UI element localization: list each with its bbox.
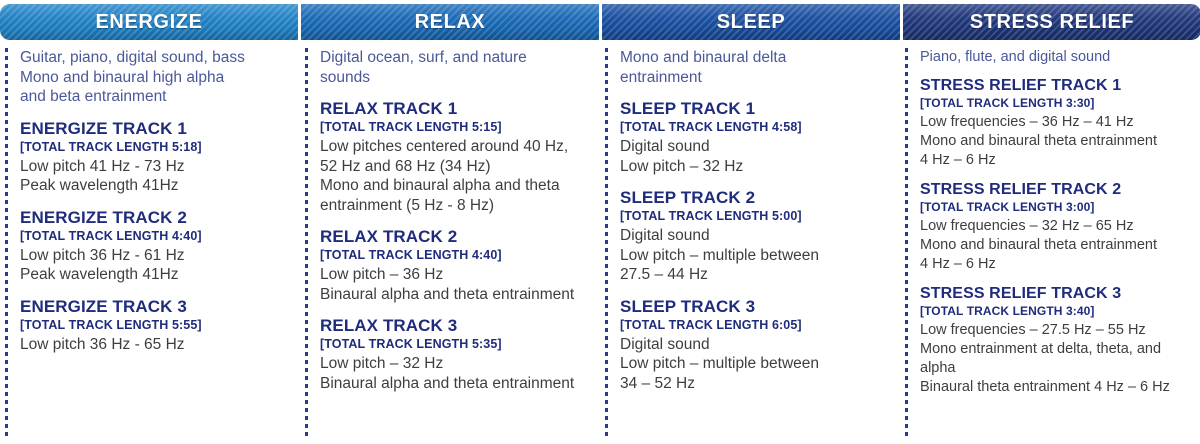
track-detail-line: Digital sound xyxy=(620,137,886,157)
track-detail-line: Low pitches centered around 40 Hz, xyxy=(320,137,586,157)
category-column-relax: Digital ocean, surf, and naturesoundsREL… xyxy=(300,48,600,444)
track-length: [TOTAL TRACK LENGTH 5:35] xyxy=(320,336,586,352)
track-title: RELAX TRACK 2 xyxy=(320,226,586,247)
track-detail-line: Mono and binaural theta entrainment xyxy=(920,132,1194,151)
category-header-label: RELAX xyxy=(415,11,486,34)
category-header-energize[interactable]: ENERGIZE xyxy=(0,4,298,40)
track-length: [TOTAL TRACK LENGTH 6:05] xyxy=(620,317,886,333)
track-entry: ENERGIZE TRACK 1[TOTAL TRACK LENGTH 5:18… xyxy=(20,118,286,196)
track-detail-line: Low pitch 36 Hz - 61 Hz xyxy=(20,246,286,266)
track-detail-line: Low pitch – 32 Hz xyxy=(620,157,886,177)
track-entry: STRESS RELIEF TRACK 2[TOTAL TRACK LENGTH… xyxy=(920,180,1194,274)
track-length: [TOTAL TRACK LENGTH 5:15] xyxy=(320,119,586,135)
category-intro: Mono and binaural deltaentrainment xyxy=(620,48,886,87)
track-entry: ENERGIZE TRACK 3[TOTAL TRACK LENGTH 5:55… xyxy=(20,296,286,355)
track-entry: SLEEP TRACK 3[TOTAL TRACK LENGTH 6:05]Di… xyxy=(620,296,886,394)
intro-line: entrainment xyxy=(620,68,886,88)
track-entry: SLEEP TRACK 1[TOTAL TRACK LENGTH 4:58]Di… xyxy=(620,98,886,176)
track-entry: ENERGIZE TRACK 2[TOTAL TRACK LENGTH 4:40… xyxy=(20,207,286,285)
track-entry: SLEEP TRACK 2[TOTAL TRACK LENGTH 5:00]Di… xyxy=(620,187,886,285)
track-detail-line: 52 Hz and 68 Hz (34 Hz) xyxy=(320,157,586,177)
track-length: [TOTAL TRACK LENGTH 3:40] xyxy=(920,304,1194,319)
track-detail-line: entrainment (5 Hz - 8 Hz) xyxy=(320,196,586,216)
track-entry: STRESS RELIEF TRACK 3[TOTAL TRACK LENGTH… xyxy=(920,284,1194,397)
track-length: [TOTAL TRACK LENGTH 4:58] xyxy=(620,119,886,135)
category-column-stress-relief: Piano, flute, and digital soundSTRESS RE… xyxy=(900,48,1200,444)
track-detail-line: Low pitch – 36 Hz xyxy=(320,265,586,285)
track-title: ENERGIZE TRACK 3 xyxy=(20,296,286,317)
category-header-label: SLEEP xyxy=(717,11,786,34)
track-detail-line: Low pitch 41 Hz - 73 Hz xyxy=(20,157,286,177)
intro-line: Piano, flute, and digital sound xyxy=(920,48,1194,67)
intro-line: and beta entrainment xyxy=(20,87,286,107)
track-detail-line: Low frequencies – 32 Hz – 65 Hz xyxy=(920,217,1194,236)
track-detail-line: 27.5 – 44 Hz xyxy=(620,265,886,285)
intro-line: Mono and binaural delta xyxy=(620,48,886,68)
track-title: SLEEP TRACK 3 xyxy=(620,296,886,317)
track-entry: RELAX TRACK 2[TOTAL TRACK LENGTH 4:40]Lo… xyxy=(320,226,586,304)
track-entry: RELAX TRACK 3[TOTAL TRACK LENGTH 5:35]Lo… xyxy=(320,315,586,393)
track-detail-line: 34 – 52 Hz xyxy=(620,374,886,394)
track-detail-line: Low pitch – multiple between xyxy=(620,246,886,266)
track-entry: RELAX TRACK 1[TOTAL TRACK LENGTH 5:15]Lo… xyxy=(320,98,586,215)
track-detail-line: Peak wavelength 41Hz xyxy=(20,176,286,196)
category-header-sleep[interactable]: SLEEP xyxy=(602,4,900,40)
intro-line: sounds xyxy=(320,68,586,88)
track-entry: STRESS RELIEF TRACK 1[TOTAL TRACK LENGTH… xyxy=(920,76,1194,170)
track-detail-line: Low frequencies – 36 Hz – 41 Hz xyxy=(920,113,1194,132)
track-title: RELAX TRACK 3 xyxy=(320,315,586,336)
track-title: SLEEP TRACK 1 xyxy=(620,98,886,119)
category-intro: Piano, flute, and digital sound xyxy=(920,48,1194,67)
track-title: SLEEP TRACK 2 xyxy=(620,187,886,208)
intro-line: Guitar, piano, digital sound, bass xyxy=(20,48,286,68)
category-body-row: Guitar, piano, digital sound, bassMono a… xyxy=(0,48,1200,444)
category-intro: Guitar, piano, digital sound, bassMono a… xyxy=(20,48,286,107)
track-detail-line: Binaural alpha and theta entrainment xyxy=(320,374,586,394)
track-length: [TOTAL TRACK LENGTH 5:00] xyxy=(620,208,886,224)
category-header-relax[interactable]: RELAX xyxy=(301,4,599,40)
track-detail-line: Low pitch – multiple between xyxy=(620,354,886,374)
track-title: RELAX TRACK 1 xyxy=(320,98,586,119)
track-detail-line: Mono and binaural theta entrainment xyxy=(920,236,1194,255)
track-detail-line: 4 Hz – 6 Hz xyxy=(920,255,1194,274)
track-title: STRESS RELIEF TRACK 1 xyxy=(920,76,1194,96)
track-length: [TOTAL TRACK LENGTH 3:30] xyxy=(920,96,1194,111)
track-detail-line: Low frequencies – 27.5 Hz – 55 Hz xyxy=(920,321,1194,340)
category-header-stress-relief[interactable]: STRESS RELIEF xyxy=(903,4,1200,40)
track-detail-line: 4 Hz – 6 Hz xyxy=(920,151,1194,170)
category-header-label: STRESS RELIEF xyxy=(970,11,1135,34)
track-length: [TOTAL TRACK LENGTH 4:40] xyxy=(20,228,286,244)
category-intro: Digital ocean, surf, and naturesounds xyxy=(320,48,586,87)
track-detail-line: Binaural theta entrainment 4 Hz – 6 Hz xyxy=(920,378,1194,397)
category-header-label: ENERGIZE xyxy=(95,11,202,34)
track-detail-line: Low pitch – 32 Hz xyxy=(320,354,586,374)
track-detail-line: Mono entrainment at delta, theta, and al… xyxy=(920,340,1194,378)
track-title: STRESS RELIEF TRACK 2 xyxy=(920,180,1194,200)
category-column-sleep: Mono and binaural deltaentrainmentSLEEP … xyxy=(600,48,900,444)
track-length: [TOTAL TRACK LENGTH 3:00] xyxy=(920,200,1194,215)
track-length: [TOTAL TRACK LENGTH 4:40] xyxy=(320,247,586,263)
track-detail-line: Binaural alpha and theta entrainment xyxy=(320,285,586,305)
track-detail-line: Low pitch 36 Hz - 65 Hz xyxy=(20,335,286,355)
track-detail-line: Mono and binaural alpha and theta xyxy=(320,176,586,196)
category-column-energize: Guitar, piano, digital sound, bassMono a… xyxy=(0,48,300,444)
track-title: STRESS RELIEF TRACK 3 xyxy=(920,284,1194,304)
track-detail-line: Peak wavelength 41Hz xyxy=(20,265,286,285)
intro-line: Mono and binaural high alpha xyxy=(20,68,286,88)
track-detail-line: Digital sound xyxy=(620,226,886,246)
track-length: [TOTAL TRACK LENGTH 5:18] xyxy=(20,139,286,155)
track-title: ENERGIZE TRACK 1 xyxy=(20,118,286,139)
intro-line: Digital ocean, surf, and nature xyxy=(320,48,586,68)
track-detail-line: Digital sound xyxy=(620,335,886,355)
track-title: ENERGIZE TRACK 2 xyxy=(20,207,286,228)
category-header-row: ENERGIZERELAXSLEEPSTRESS RELIEF xyxy=(0,4,1200,40)
track-length: [TOTAL TRACK LENGTH 5:55] xyxy=(20,317,286,333)
track-comparison-table: ENERGIZERELAXSLEEPSTRESS RELIEF Guitar, … xyxy=(0,0,1200,444)
